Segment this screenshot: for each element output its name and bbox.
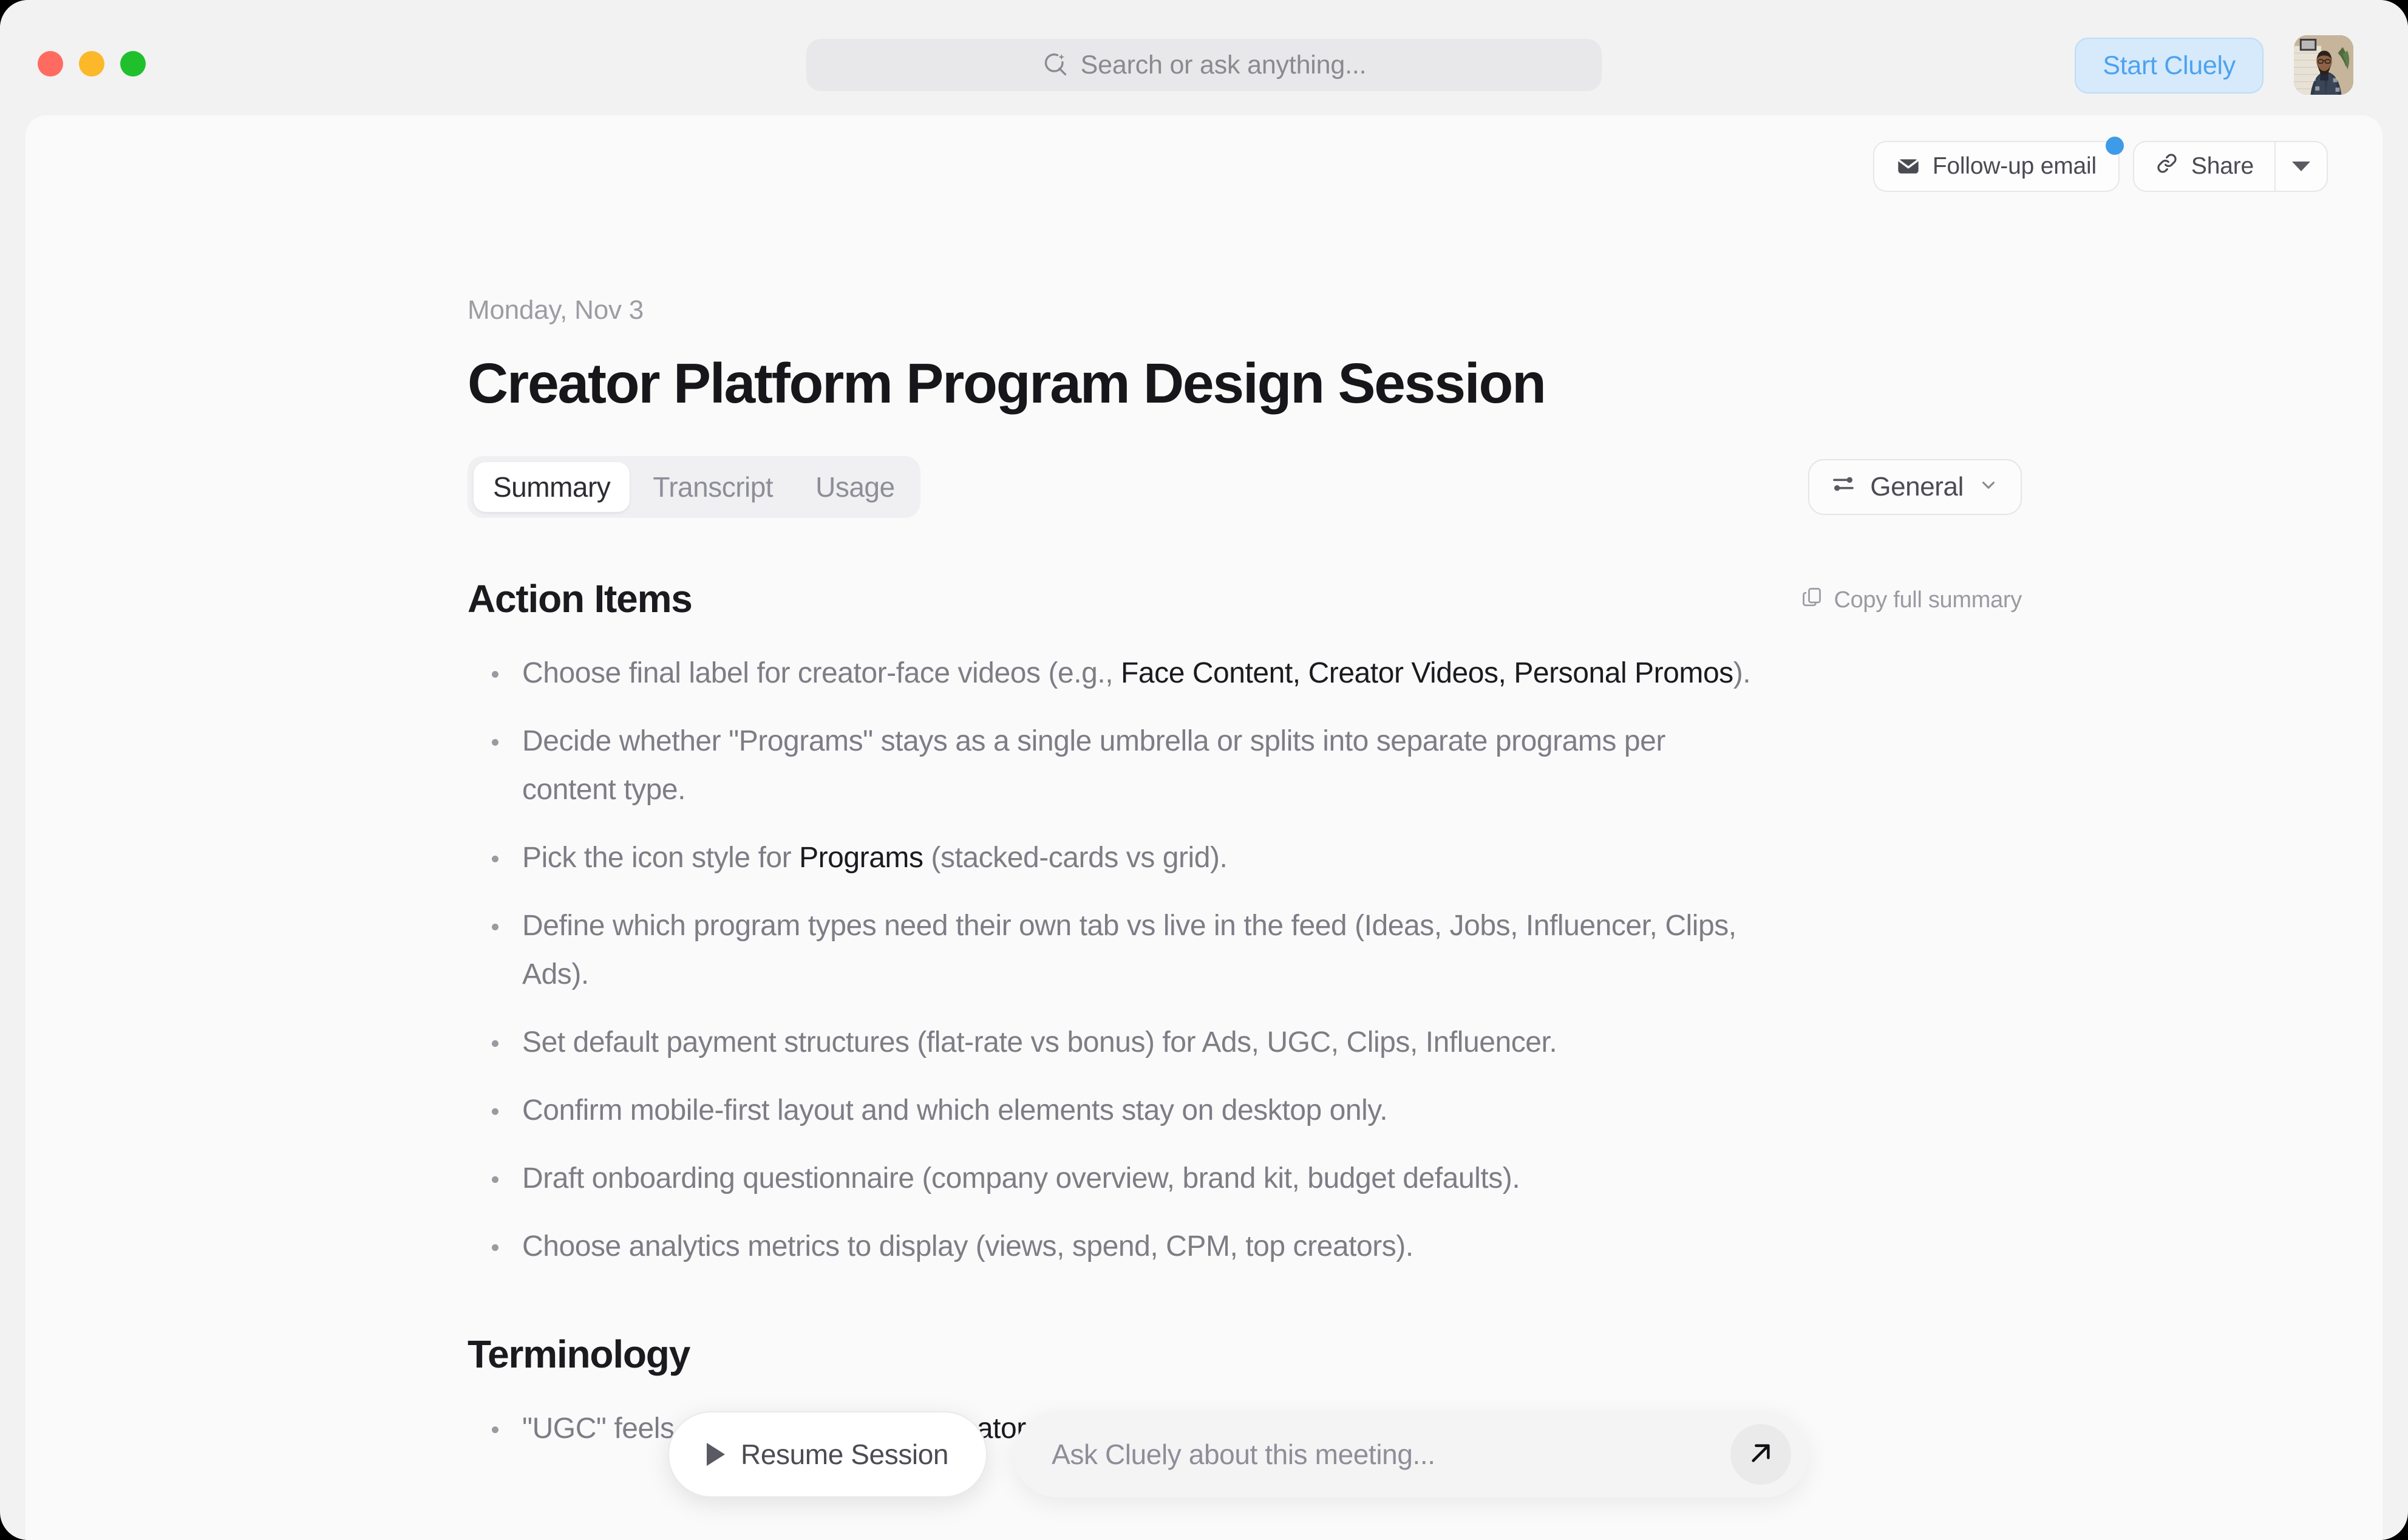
template-selector-label: General [1870,472,1964,502]
terminology-heading: Terminology [468,1332,2022,1377]
arrow-up-right-icon [1744,1437,1777,1473]
list-item: Set default payment structures (flat-rat… [468,1018,1761,1067]
start-cluely-button[interactable]: Start Cluely [2075,38,2263,94]
floating-action-bar: Resume Session Ask Cluely about this mee… [668,1411,1808,1497]
item-text: Choose final label for creator-face vide… [522,657,1121,689]
global-search-input[interactable]: Search or ask anything... [806,39,1602,91]
share-split-button[interactable]: Share [2133,141,2328,192]
tab-row: Summary Transcript Usage General [468,456,2022,518]
copy-icon [1801,586,1823,614]
item-text: Confirm mobile-first layout and which el… [522,1094,1387,1126]
action-items-header: Action Items Copy full summary [468,576,2022,621]
list-item: Pick the icon style for Programs (stacke… [468,834,1761,882]
item-text: Choose analytics metrics to display (vie… [522,1230,1413,1262]
share-button[interactable]: Share [2134,142,2274,191]
close-window-button[interactable] [38,51,63,77]
avatar[interactable] [2294,35,2353,95]
list-item: Choose final label for creator-face vide… [468,649,1761,698]
search-sparkle-icon [1042,52,1069,78]
traffic-lights [38,51,146,77]
tab-usage[interactable]: Usage [796,462,914,512]
play-icon [707,1443,725,1466]
item-text: Pick the icon style for [522,842,799,874]
ask-cluely-placeholder: Ask Cluely about this meeting... [1052,1438,1730,1471]
list-item: Decide whether "Programs" stays as a sin… [468,717,1761,814]
copy-full-summary-button[interactable]: Copy full summary [1801,586,2022,614]
item-text: Set default payment structures (flat-rat… [522,1026,1557,1058]
ask-cluely-input[interactable]: Ask Cluely about this meeting... [1014,1411,1808,1497]
template-selector[interactable]: General [1808,459,2022,515]
resume-session-label: Resume Session [741,1438,948,1471]
item-text: Define which program types need their ow… [522,910,1736,990]
item-text: Decide whether "Programs" stays as a sin… [522,725,1665,806]
emphasis-text: Programs [799,842,923,874]
item-text: Draft onboarding questionnaire (company … [522,1162,1520,1194]
zoom-window-button[interactable] [120,51,146,77]
send-button[interactable] [1730,1424,1791,1485]
start-cluely-label: Start Cluely [2103,51,2236,81]
content-area: Follow-up email Share [26,115,2382,1540]
meeting-date: Monday, Nov 3 [468,295,2022,325]
copy-full-summary-label: Copy full summary [1834,587,2022,613]
tab-transcript[interactable]: Transcript [633,462,792,512]
list-item: Confirm mobile-first layout and which el… [468,1086,1761,1135]
titlebar: Search or ask anything... Start Cluely [0,0,2408,115]
caret-down-icon [2292,162,2310,171]
search-placeholder: Search or ask anything... [1081,50,1367,80]
share-label: Share [2191,153,2254,180]
tab-group: Summary Transcript Usage [468,456,920,518]
action-items-heading: Action Items [468,576,692,621]
link-icon [2155,151,2179,182]
chevron-down-icon [1978,472,1999,502]
item-text: (stacked-cards vs grid). [923,842,1228,874]
minimize-window-button[interactable] [79,51,104,77]
emphasis-text: Face Content, Creator Videos, Personal P… [1121,657,1733,689]
action-items-list: Choose final label for creator-face vide… [468,649,2022,1271]
list-item: Choose analytics metrics to display (vie… [468,1222,1761,1271]
notification-badge [2106,137,2124,155]
resume-session-button[interactable]: Resume Session [668,1411,987,1497]
list-item: Define which program types need their ow… [468,902,1761,999]
app-window: Search or ask anything... Start Cluely [0,0,2408,1540]
share-dropdown-button[interactable] [2274,142,2327,191]
page-title: Creator Platform Program Design Session [468,351,2022,416]
list-item: Draft onboarding questionnaire (company … [468,1154,1761,1203]
summary-document: Monday, Nov 3 Creator Platform Program D… [468,115,2022,1473]
tab-summary[interactable]: Summary [474,462,630,512]
avatar-image [2294,35,2353,95]
sliders-icon [1831,472,1855,503]
item-text: ). [1733,657,1750,689]
